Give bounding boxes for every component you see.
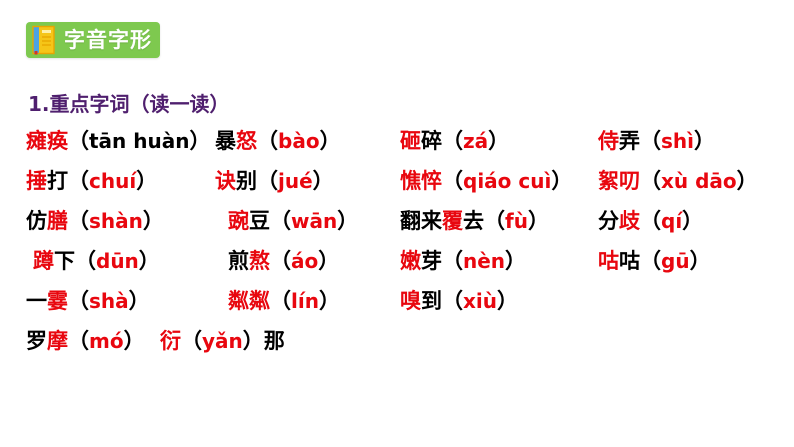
section-badge: 字音字形: [26, 22, 160, 58]
vocab-char: 霎: [47, 289, 68, 313]
vocab-entry: 粼粼（lín）: [228, 286, 340, 316]
vocab-entry: 憔悴（qiáo cuì）: [400, 166, 572, 196]
vocab-entry: 仿膳（shàn）: [26, 206, 164, 236]
vocab-row: 一霎（shà）粼粼（lín）嗅到（xiù）: [0, 286, 794, 326]
pinyin: lín: [291, 289, 319, 313]
page-title: 1.重点字词（读一读）: [28, 88, 230, 117]
open-paren: （: [270, 249, 291, 273]
pinyin: mó: [89, 329, 124, 353]
vocab-char: 膳: [47, 209, 68, 233]
close-paren: ）: [319, 289, 340, 313]
open-paren: （: [68, 209, 89, 233]
vocab-char: 咕: [598, 249, 619, 273]
close-paren: ）: [189, 129, 210, 153]
pinyin: qí: [661, 209, 682, 233]
vocab-entry: 嫩芽（nèn）: [400, 246, 526, 276]
vocab-char: 蹲: [33, 249, 54, 273]
vocab-row: 捶打（chuí）诀别（jué）憔悴（qiáo cuì）絮叨（xù dāo）: [0, 166, 794, 206]
pinyin: bào: [278, 129, 320, 153]
close-paren: ）: [243, 329, 264, 353]
vocab-char: 打: [47, 169, 68, 193]
vocab-char: 嗅: [400, 289, 421, 313]
vocab-entry: 瘫痪（tān huàn）: [26, 126, 210, 156]
vocab-char: 衍: [160, 329, 181, 353]
pinyin: gū: [661, 249, 690, 273]
vocab-entry: 侍弄（shì）: [598, 126, 715, 156]
pinyin: áo: [291, 249, 318, 273]
open-paren: （: [68, 329, 89, 353]
close-paren: ）: [139, 249, 160, 273]
vocab-entry: 罗摩（mó）: [26, 326, 145, 356]
open-paren: （: [640, 209, 661, 233]
pinyin: xù dāo: [661, 169, 737, 193]
vocab-row: 仿膳（shàn）豌豆（wān）翻来覆去（fù）分歧（qí）: [0, 206, 794, 246]
pinyin: shà: [89, 289, 129, 313]
pinyin: zá: [463, 129, 488, 153]
badge-title: 字音字形: [64, 30, 152, 51]
close-paren: ）: [488, 129, 509, 153]
vocab-entry: 煎熬（áo）: [228, 246, 339, 276]
vocab-char: 歧: [619, 209, 640, 233]
vocab-char: 豌: [228, 209, 249, 233]
vocab-char: 絮: [598, 169, 619, 193]
vocab-entry: 一霎（shà）: [26, 286, 150, 316]
vocab-char: 弄: [619, 129, 640, 153]
vocab-entry: 诀别（jué）: [215, 166, 334, 196]
pinyin: qiáo cuì: [463, 169, 551, 193]
vocab-char: 分: [598, 209, 619, 233]
close-paren: ）: [124, 329, 145, 353]
pinyin: yǎn: [202, 329, 243, 353]
open-paren: （: [68, 129, 89, 153]
vocab-char: 暴: [215, 129, 236, 153]
open-paren: （: [640, 129, 661, 153]
open-paren: （: [75, 249, 96, 273]
vocab-char: 一: [26, 289, 47, 313]
vocab-char: 嫩: [400, 249, 421, 273]
vocab-char: 别: [236, 169, 257, 193]
open-paren: （: [640, 169, 661, 193]
vocab-entry: 翻来覆去（fù）: [400, 206, 549, 236]
vocab-char: 罗: [26, 329, 47, 353]
close-paren: ）: [528, 209, 549, 233]
vocab-char: 叨: [619, 169, 640, 193]
open-paren: （: [442, 129, 463, 153]
pinyin: dūn: [96, 249, 139, 273]
open-paren: （: [442, 169, 463, 193]
close-paren: ）: [551, 169, 572, 193]
vocab-char: 怒: [236, 129, 257, 153]
close-paren: ）: [690, 249, 711, 273]
vocab-char: 咕: [619, 249, 640, 273]
vocab-entry: 絮叨（xù dāo）: [598, 166, 758, 196]
pinyin: chuí: [89, 169, 136, 193]
pinyin: jué: [278, 169, 313, 193]
open-paren: （: [442, 249, 463, 273]
pinyin: xiù: [463, 289, 497, 313]
vocab-entry: 嗅到（xiù）: [400, 286, 518, 316]
vocab-char: 来: [421, 209, 442, 233]
open-paren: （: [640, 249, 661, 273]
vocab-char: 摩: [47, 329, 68, 353]
open-paren: （: [257, 169, 278, 193]
close-paren: ）: [737, 169, 758, 193]
vocab-entry: 分歧（qí）: [598, 206, 703, 236]
vocab-entry: 豌豆（wān）: [228, 206, 358, 236]
vocab-entry: 蹲下（dūn）: [33, 246, 160, 276]
close-paren: ）: [313, 169, 334, 193]
vocab-char: 芽: [421, 249, 442, 273]
open-paren: （: [484, 209, 505, 233]
vocab-row: 瘫痪（tān huàn）暴怒（bào）砸碎（zá）侍弄（shì）: [0, 126, 794, 166]
open-paren: （: [181, 329, 202, 353]
vocab-char: 下: [54, 249, 75, 273]
open-paren: （: [68, 289, 89, 313]
vocab-row: 蹲下（dūn）煎熬（áo）嫩芽（nèn）咕咕（gū）: [0, 246, 794, 286]
open-paren: （: [257, 129, 278, 153]
pinyin: shì: [661, 129, 694, 153]
vocab-char: 熬: [249, 249, 270, 273]
vocab-entry: 暴怒（bào）: [215, 126, 341, 156]
vocab-char: 仿: [26, 209, 47, 233]
pinyin: fù: [505, 209, 528, 233]
vocab-char: 侍: [598, 129, 619, 153]
vocab-char: 翻: [400, 209, 421, 233]
vocab-trailing-char: 那: [264, 329, 285, 353]
vocab-char: 粼: [249, 289, 270, 313]
close-paren: ）: [129, 289, 150, 313]
pinyin: shàn: [89, 209, 143, 233]
vocab-char: 碎: [421, 129, 442, 153]
close-paren: ）: [320, 129, 341, 153]
pinyin: nèn: [463, 249, 505, 273]
vocab-char: 诀: [215, 169, 236, 193]
vocab-char: 豆: [249, 209, 270, 233]
open-paren: （: [442, 289, 463, 313]
close-paren: ）: [143, 209, 164, 233]
vocab-char: 悴: [421, 169, 442, 193]
vocab-entry: 砸碎（zá）: [400, 126, 509, 156]
close-paren: ）: [497, 289, 518, 313]
vocab-char: 瘫: [26, 129, 47, 153]
vocab-char: 覆: [442, 209, 463, 233]
vocab-entry: 衍（yǎn）那: [160, 326, 285, 356]
vocab-char: 去: [463, 209, 484, 233]
vocab-char: 粼: [228, 289, 249, 313]
open-paren: （: [68, 169, 89, 193]
pinyin: tān huàn: [89, 129, 189, 153]
close-paren: ）: [694, 129, 715, 153]
pinyin: wān: [291, 209, 337, 233]
close-paren: ）: [505, 249, 526, 273]
vocabulary-list: 瘫痪（tān huàn）暴怒（bào）砸碎（zá）侍弄（shì）捶打（chuí）…: [0, 126, 794, 366]
vocab-char: 到: [421, 289, 442, 313]
vocab-char: 憔: [400, 169, 421, 193]
vocab-char: 煎: [228, 249, 249, 273]
close-paren: ）: [682, 209, 703, 233]
vocab-entry: 咕咕（gū）: [598, 246, 711, 276]
close-paren: ）: [318, 249, 339, 273]
vocab-char: 捶: [26, 169, 47, 193]
vocab-char: 痪: [47, 129, 68, 153]
book-icon: [32, 25, 56, 55]
vocab-row: 罗摩（mó）衍（yǎn）那: [0, 326, 794, 366]
open-paren: （: [270, 209, 291, 233]
vocab-entry: 捶打（chuí）: [26, 166, 157, 196]
close-paren: ）: [136, 169, 157, 193]
open-paren: （: [270, 289, 291, 313]
close-paren: ）: [337, 209, 358, 233]
vocab-char: 砸: [400, 129, 421, 153]
